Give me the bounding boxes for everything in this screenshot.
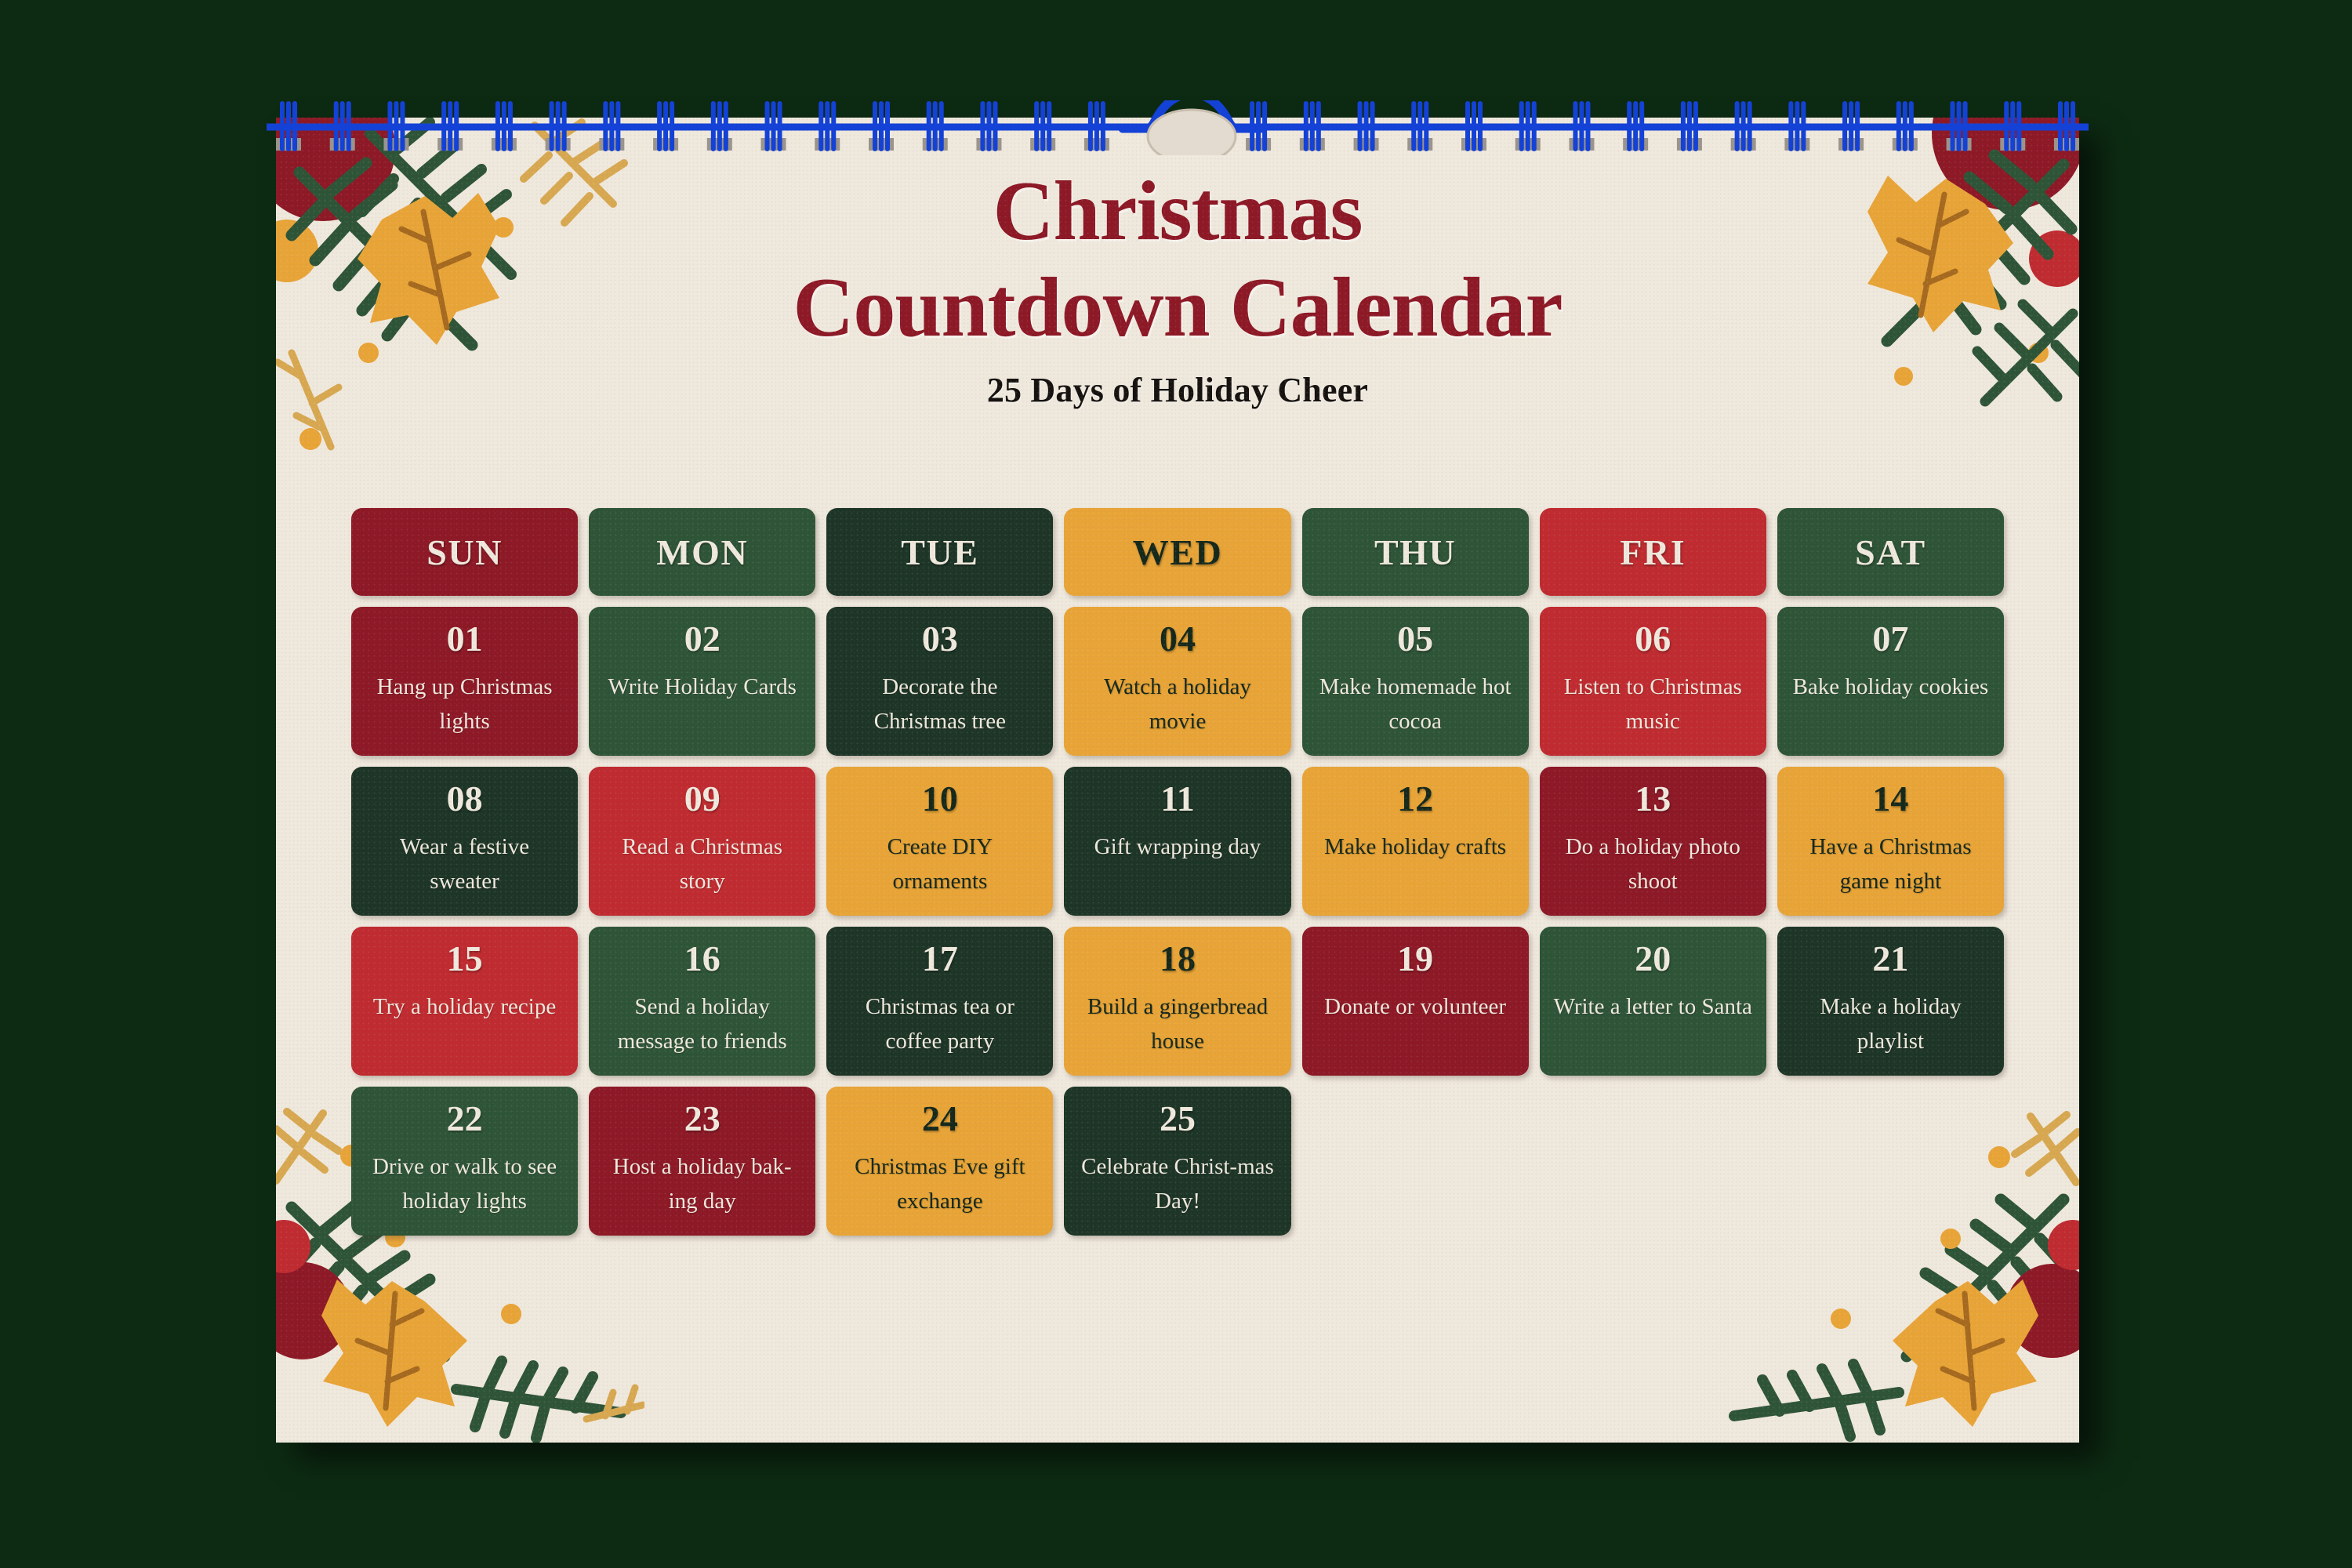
calendar-week-row: 15Try a holiday recipe16Send a holiday m… bbox=[351, 927, 2004, 1076]
day-number: 18 bbox=[1160, 941, 1196, 977]
day-cell-11[interactable]: 11Gift wrapping day bbox=[1064, 767, 1290, 916]
day-activity-text: Do a holiday photo shoot bbox=[1549, 829, 1757, 898]
day-cell-10[interactable]: 10Create DIY ornaments bbox=[826, 767, 1053, 916]
day-cell-12[interactable]: 12Make holiday crafts bbox=[1302, 767, 1529, 916]
day-number: 21 bbox=[1872, 941, 1908, 977]
day-cell-24[interactable]: 24Christmas Eve gift exchange bbox=[826, 1087, 1053, 1236]
spiral-binding bbox=[267, 100, 2089, 155]
weekday-header-sat: SAT bbox=[1777, 508, 2004, 596]
weekday-label: SUN bbox=[426, 532, 503, 573]
day-cell-04[interactable]: 04Watch a holiday movie bbox=[1064, 607, 1290, 756]
page-title-line-1: Christmas bbox=[276, 165, 2079, 260]
day-number: 15 bbox=[447, 941, 483, 977]
day-cell-19[interactable]: 19Donate or volunteer bbox=[1302, 927, 1529, 1076]
day-activity-text: Hang up Christmas lights bbox=[361, 670, 568, 739]
weekday-label: FRI bbox=[1620, 532, 1686, 573]
day-activity-text: Host a holiday bak-ing day bbox=[598, 1149, 806, 1218]
day-cell-21[interactable]: 21Make a holiday playlist bbox=[1777, 927, 2004, 1076]
day-number: 13 bbox=[1635, 781, 1671, 817]
day-number: 10 bbox=[922, 781, 958, 817]
day-cell-13[interactable]: 13Do a holiday photo shoot bbox=[1540, 767, 1766, 916]
day-activity-text: Write Holiday Cards bbox=[604, 670, 799, 704]
weekday-header-tue: TUE bbox=[826, 508, 1053, 596]
day-activity-text: Watch a holiday movie bbox=[1073, 670, 1281, 739]
calendar-header: Christmas Countdown Calendar 25 Days of … bbox=[276, 165, 2079, 410]
day-number: 06 bbox=[1635, 621, 1671, 657]
weekday-label: WED bbox=[1133, 532, 1222, 573]
day-activity-text: Gift wrapping day bbox=[1091, 829, 1265, 864]
day-number: 14 bbox=[1872, 781, 1908, 817]
day-cell-01[interactable]: 01Hang up Christmas lights bbox=[351, 607, 578, 756]
day-number: 19 bbox=[1397, 941, 1433, 977]
weekday-header-mon: MON bbox=[589, 508, 815, 596]
weekday-header-thu: THU bbox=[1302, 508, 1529, 596]
weekday-header-fri: FRI bbox=[1540, 508, 1766, 596]
day-cell-18[interactable]: 18Build a gingerbread house bbox=[1064, 927, 1290, 1076]
day-cell-20[interactable]: 20Write a letter to Santa bbox=[1540, 927, 1766, 1076]
weekday-header-wed: WED bbox=[1064, 508, 1290, 596]
day-number: 04 bbox=[1160, 621, 1196, 657]
day-activity-text: Listen to Christmas music bbox=[1549, 670, 1757, 739]
day-cell-22[interactable]: 22Drive or walk to see holiday lights bbox=[351, 1087, 578, 1236]
day-cell-03[interactable]: 03Decorate the Christmas tree bbox=[826, 607, 1053, 756]
day-number: 02 bbox=[684, 621, 720, 657]
day-activity-text: Read a Christmas story bbox=[598, 829, 806, 898]
day-number: 05 bbox=[1397, 621, 1433, 657]
day-cell-05[interactable]: 05Make homemade hot cocoa bbox=[1302, 607, 1529, 756]
weekday-header-sun: SUN bbox=[351, 508, 578, 596]
calendar-week-row: 01Hang up Christmas lights02Write Holida… bbox=[351, 607, 2004, 756]
day-cell-06[interactable]: 06Listen to Christmas music bbox=[1540, 607, 1766, 756]
day-cell-15[interactable]: 15Try a holiday recipe bbox=[351, 927, 578, 1076]
day-activity-text: Celebrate Christ-mas Day! bbox=[1073, 1149, 1281, 1218]
calendar-week-row: 22Drive or walk to see holiday lights23H… bbox=[351, 1087, 2004, 1236]
day-activity-text: Make a holiday playlist bbox=[1787, 989, 1994, 1058]
page-subtitle: 25 Days of Holiday Cheer bbox=[276, 370, 2079, 410]
day-cell-17[interactable]: 17Christmas tea or coffee party bbox=[826, 927, 1053, 1076]
weekday-label: THU bbox=[1374, 532, 1456, 573]
day-activity-text: Create DIY ornaments bbox=[836, 829, 1044, 898]
day-number: 20 bbox=[1635, 941, 1671, 977]
day-number: 07 bbox=[1872, 621, 1908, 657]
day-activity-text: Christmas Eve gift exchange bbox=[836, 1149, 1044, 1218]
day-number: 09 bbox=[684, 781, 720, 817]
weekday-label: MON bbox=[656, 532, 748, 573]
day-cell-23[interactable]: 23Host a holiday bak-ing day bbox=[589, 1087, 815, 1236]
day-activity-text: Send a holiday message to friends bbox=[598, 989, 806, 1058]
weekday-header-row: SUNMONTUEWEDTHUFRISAT bbox=[351, 508, 2004, 596]
day-number: 25 bbox=[1160, 1101, 1196, 1137]
day-number: 12 bbox=[1397, 781, 1433, 817]
day-rows-container: 01Hang up Christmas lights02Write Holida… bbox=[351, 607, 2004, 1236]
calendar-week-row: 08Wear a festive sweater09Read a Christm… bbox=[351, 767, 2004, 916]
day-number: 11 bbox=[1160, 781, 1194, 817]
day-activity-text: Drive or walk to see holiday lights bbox=[361, 1149, 568, 1218]
day-cell-16[interactable]: 16Send a holiday message to friends bbox=[589, 927, 815, 1076]
weekday-label: SAT bbox=[1855, 532, 1926, 573]
day-cell-09[interactable]: 09Read a Christmas story bbox=[589, 767, 815, 916]
day-activity-text: Decorate the Christmas tree bbox=[836, 670, 1044, 739]
weekday-label: TUE bbox=[901, 532, 978, 573]
day-cell-25[interactable]: 25Celebrate Christ-mas Day! bbox=[1064, 1087, 1290, 1236]
day-activity-text: Make homemade hot cocoa bbox=[1312, 670, 1519, 739]
day-number: 01 bbox=[447, 621, 483, 657]
day-activity-text: Have a Christmas game night bbox=[1787, 829, 1994, 898]
calendar-grid: SUNMONTUEWEDTHUFRISAT 01Hang up Christma… bbox=[351, 508, 2004, 1247]
day-activity-text: Try a holiday recipe bbox=[370, 989, 559, 1024]
day-cell-08[interactable]: 08Wear a festive sweater bbox=[351, 767, 578, 916]
day-activity-text: Build a gingerbread house bbox=[1073, 989, 1281, 1058]
day-cell-02[interactable]: 02Write Holiday Cards bbox=[589, 607, 815, 756]
day-number: 23 bbox=[684, 1101, 720, 1137]
day-number: 08 bbox=[447, 781, 483, 817]
day-activity-text: Wear a festive sweater bbox=[361, 829, 568, 898]
day-number: 16 bbox=[684, 941, 720, 977]
day-number: 03 bbox=[922, 621, 958, 657]
day-number: 22 bbox=[447, 1101, 483, 1137]
day-activity-text: Christmas tea or coffee party bbox=[836, 989, 1044, 1058]
day-activity-text: Donate or volunteer bbox=[1321, 989, 1509, 1024]
day-activity-text: Make holiday crafts bbox=[1321, 829, 1509, 864]
calendar-board: Christmas Countdown Calendar 25 Days of … bbox=[276, 118, 2079, 1443]
day-activity-text: Write a letter to Santa bbox=[1551, 989, 1755, 1024]
day-cell-07[interactable]: 07Bake holiday cookies bbox=[1777, 607, 2004, 756]
page-title-line-2: Countdown Calendar bbox=[276, 261, 2079, 356]
day-activity-text: Bake holiday cookies bbox=[1790, 670, 1992, 704]
day-number: 24 bbox=[922, 1101, 958, 1137]
day-cell-14[interactable]: 14Have a Christmas game night bbox=[1777, 767, 2004, 916]
day-number: 17 bbox=[922, 941, 958, 977]
